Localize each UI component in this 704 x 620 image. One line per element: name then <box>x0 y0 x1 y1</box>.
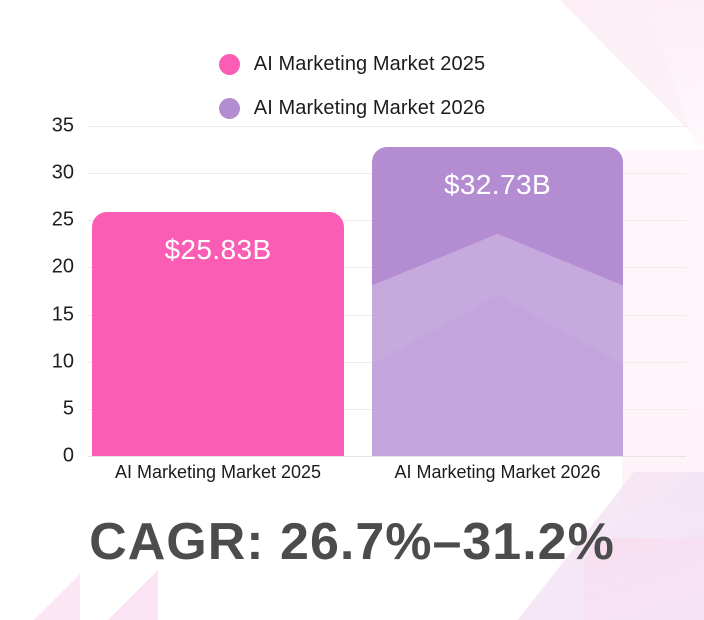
y-tick-25: 25 <box>52 209 74 232</box>
y-tick-5: 5 <box>63 397 74 420</box>
y-axis-tick-labels: 0 5 10 15 20 25 30 35 <box>0 126 86 456</box>
x-label-2026: AI Marketing Market 2026 <box>372 462 623 483</box>
decoration-bottom-left-triangle-1 <box>34 574 80 620</box>
x-axis-category-labels: AI Marketing Market 2025 AI Marketing Ma… <box>88 462 686 492</box>
gridline-0-baseline <box>88 456 686 457</box>
legend-item-2025[interactable]: AI Marketing Market 2025 <box>0 42 704 86</box>
plot-area: 0 5 10 15 20 25 30 35 $25.83B <box>0 126 704 496</box>
bar-chevron-light <box>372 234 623 456</box>
cagr-annotation: CAGR: 26.7%–31.2% <box>0 512 704 572</box>
legend-label-2026: AI Marketing Market 2026 <box>254 97 485 120</box>
y-tick-15: 15 <box>52 303 74 326</box>
y-tick-10: 10 <box>52 350 74 373</box>
chart-legend: AI Marketing Market 2025 AI Marketing Ma… <box>0 42 704 130</box>
bar-ai-marketing-market-2026[interactable]: $32.73B <box>372 147 623 456</box>
chart-canvas: AI Marketing Market 2025 AI Marketing Ma… <box>0 0 704 620</box>
legend-label-2025: AI Marketing Market 2025 <box>254 53 485 76</box>
bar-value-label-2026: $32.73B <box>372 169 623 201</box>
legend-dot-2025 <box>219 54 240 75</box>
chart-bars: $25.83B $32.73B <box>88 126 686 456</box>
bar-ai-marketing-market-2025[interactable]: $25.83B <box>92 212 344 456</box>
y-tick-30: 30 <box>52 162 74 185</box>
chart-footer: CAGR: 26.7%–31.2% <box>0 512 704 572</box>
decoration-bottom-left-triangle-2 <box>108 570 158 620</box>
bar-value-label-2025: $25.83B <box>92 234 344 266</box>
y-tick-20: 20 <box>52 256 74 279</box>
x-label-2025: AI Marketing Market 2025 <box>92 462 344 483</box>
legend-item-2026[interactable]: AI Marketing Market 2026 <box>0 86 704 130</box>
y-tick-0: 0 <box>63 445 74 468</box>
legend-dot-2026 <box>219 98 240 119</box>
